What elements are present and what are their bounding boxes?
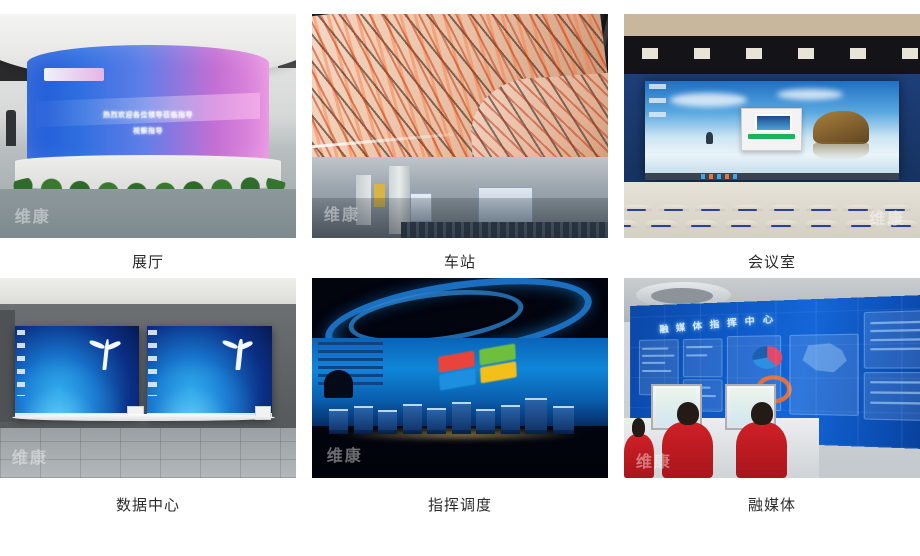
ceiling-spotlights — [624, 48, 920, 59]
wallpaper-rock — [813, 111, 869, 145]
white-y-logo — [87, 339, 124, 392]
pie-chart — [752, 346, 782, 369]
raised-floor-tiles — [0, 428, 296, 478]
console-station — [525, 398, 547, 434]
screen-bottom-ledge — [12, 414, 275, 421]
taskbar-icons — [701, 174, 742, 178]
screen-welcome-line-1: 热烈欢迎各位领导莅临指导 — [0, 110, 296, 120]
circular-ceiling-inner — [651, 288, 713, 304]
operator-person — [624, 434, 654, 478]
upper-wall — [624, 14, 920, 36]
left-wall-panel — [0, 310, 15, 422]
led-screen-left — [15, 326, 139, 418]
china-map-graphic — [799, 342, 848, 375]
caption-railway-station: 车站 — [444, 255, 476, 270]
photo-conference-room[interactable]: 维康 — [624, 14, 920, 238]
led-application-gallery: 热烈欢迎各位领导莅临指导 视察指导 维康 展厅 维康 车站 — [0, 0, 920, 556]
gallery-item-railway-station[interactable]: 维康 车站 — [307, 0, 613, 270]
operator-console-row — [324, 390, 596, 434]
hall-shadow — [312, 198, 608, 238]
conference-led-screen — [645, 81, 900, 180]
software-dialog-window — [741, 108, 802, 151]
operator-silhouette — [324, 370, 354, 398]
caption-command-dispatch: 指挥调度 — [428, 498, 492, 513]
caption-conference-room: 会议室 — [748, 255, 796, 270]
audience-seating-area — [624, 182, 920, 238]
gallery-item-data-center[interactable]: 维康 数据中心 — [0, 270, 296, 556]
photo-exhibition-hall[interactable]: 热烈欢迎各位领导莅临指导 视察指导 维康 — [0, 14, 296, 238]
gallery-item-exhibition-hall[interactable]: 热烈欢迎各位领导莅临指导 视察指导 维康 展厅 — [0, 0, 296, 270]
led-screen-right — [147, 326, 273, 418]
wallpaper-rock-reflection — [813, 142, 869, 160]
foreground-shadow — [312, 430, 608, 478]
caption-media-convergence: 融媒体 — [748, 498, 796, 513]
operator-person — [662, 422, 712, 478]
screen-logo-bar — [44, 68, 103, 81]
white-y-logo — [219, 339, 257, 392]
desktop-icons — [649, 84, 667, 119]
operator-person — [736, 422, 786, 478]
desktop-icons — [17, 330, 26, 396]
task-list-panel — [863, 372, 920, 422]
photo-media-convergence[interactable]: 融媒体指挥中心 维康 — [624, 278, 920, 478]
wallpaper-cloud — [670, 93, 746, 107]
desktop-icons — [148, 330, 157, 396]
wallpaper-cloud — [777, 89, 843, 100]
dialog-preview-image — [755, 114, 792, 132]
screen-welcome-line-2: 视察指导 — [0, 126, 296, 136]
windows-taskbar — [645, 173, 900, 180]
wallpaper-runner — [706, 132, 714, 144]
caption-data-center: 数据中心 — [116, 498, 180, 513]
operator-head — [677, 402, 699, 426]
photo-command-dispatch[interactable]: 维康 — [312, 278, 608, 478]
video-wall-title: 融媒体指挥中心 — [659, 297, 902, 338]
caption-exhibition-hall: 展厅 — [132, 255, 164, 270]
photo-data-center[interactable]: 维康 — [0, 278, 296, 478]
map-panel — [789, 333, 858, 416]
data-panel — [683, 339, 722, 377]
gallery-item-conference-room[interactable]: 维康 会议室 — [624, 0, 920, 270]
gallery-item-command-dispatch[interactable]: 维康 指挥调度 — [307, 270, 613, 556]
dialog-progress-bar — [748, 134, 795, 139]
hall-floor — [0, 189, 296, 238]
operator-head — [632, 418, 645, 436]
photo-railway-station[interactable]: 维康 — [312, 14, 608, 238]
ceiling-light-panel — [0, 278, 296, 304]
visitor-silhouette — [6, 110, 16, 146]
news-list-panel — [863, 309, 920, 368]
gallery-item-media-convergence[interactable]: 融媒体指挥中心 维康 融媒体 — [624, 270, 920, 556]
operator-head — [751, 402, 773, 426]
